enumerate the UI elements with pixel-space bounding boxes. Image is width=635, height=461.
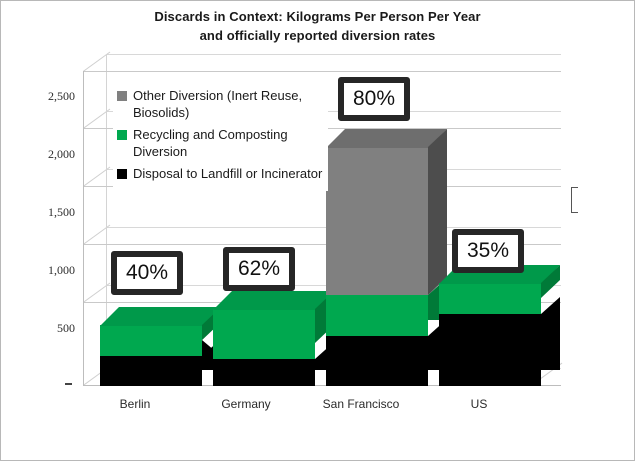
plot-area: 2,500 2,000 1,500 1,000 500 [1, 1, 634, 460]
legend-item-disposal[interactable]: Disposal to Landfill or Incinerator [117, 165, 324, 182]
x-label-san-francisco: San Francisco [301, 397, 421, 411]
y-tick-label-zero [65, 383, 72, 385]
y-tick-label-500: 500 [13, 321, 75, 336]
legend-swatch-disposal-icon [117, 169, 127, 179]
gridline-back-2500 [106, 54, 561, 55]
chart-canvas: Discards in Context: Kilograms Per Perso… [0, 0, 635, 461]
x-label-berlin: Berlin [80, 397, 190, 411]
legend-label-disposal: Disposal to Landfill or Incinerator [133, 165, 322, 182]
y-tick-label-1000: 1,000 [13, 263, 75, 278]
callout-san-francisco-80: 80% [338, 77, 410, 121]
bracket-artifact [571, 187, 578, 213]
y-tick-label-1500: 1,500 [13, 205, 75, 220]
legend-item-other-diversion[interactable]: Other Diversion (Inert Reuse, Biosolids) [117, 87, 324, 121]
gridline-2500 [83, 71, 561, 72]
callout-germany-62: 62% [223, 247, 295, 291]
legend-swatch-other-diversion-icon [117, 91, 127, 101]
y-tick-label-2000: 2,000 [13, 147, 75, 162]
legend-label-recycling: Recycling and Composting Diversion [133, 126, 324, 160]
x-label-us: US [419, 397, 539, 411]
callout-us-35: 35% [452, 229, 524, 273]
callout-berlin-40: 40% [111, 251, 183, 295]
y-axis-line [83, 71, 84, 386]
legend-item-recycling[interactable]: Recycling and Composting Diversion [117, 126, 324, 160]
x-label-germany: Germany [191, 397, 301, 411]
legend-swatch-recycling-icon [117, 130, 127, 140]
chart-legend: Other Diversion (Inert Reuse, Biosolids)… [113, 83, 328, 191]
legend-label-other-diversion: Other Diversion (Inert Reuse, Biosolids) [133, 87, 324, 121]
y-tick-label-2500: 2,500 [13, 89, 75, 104]
